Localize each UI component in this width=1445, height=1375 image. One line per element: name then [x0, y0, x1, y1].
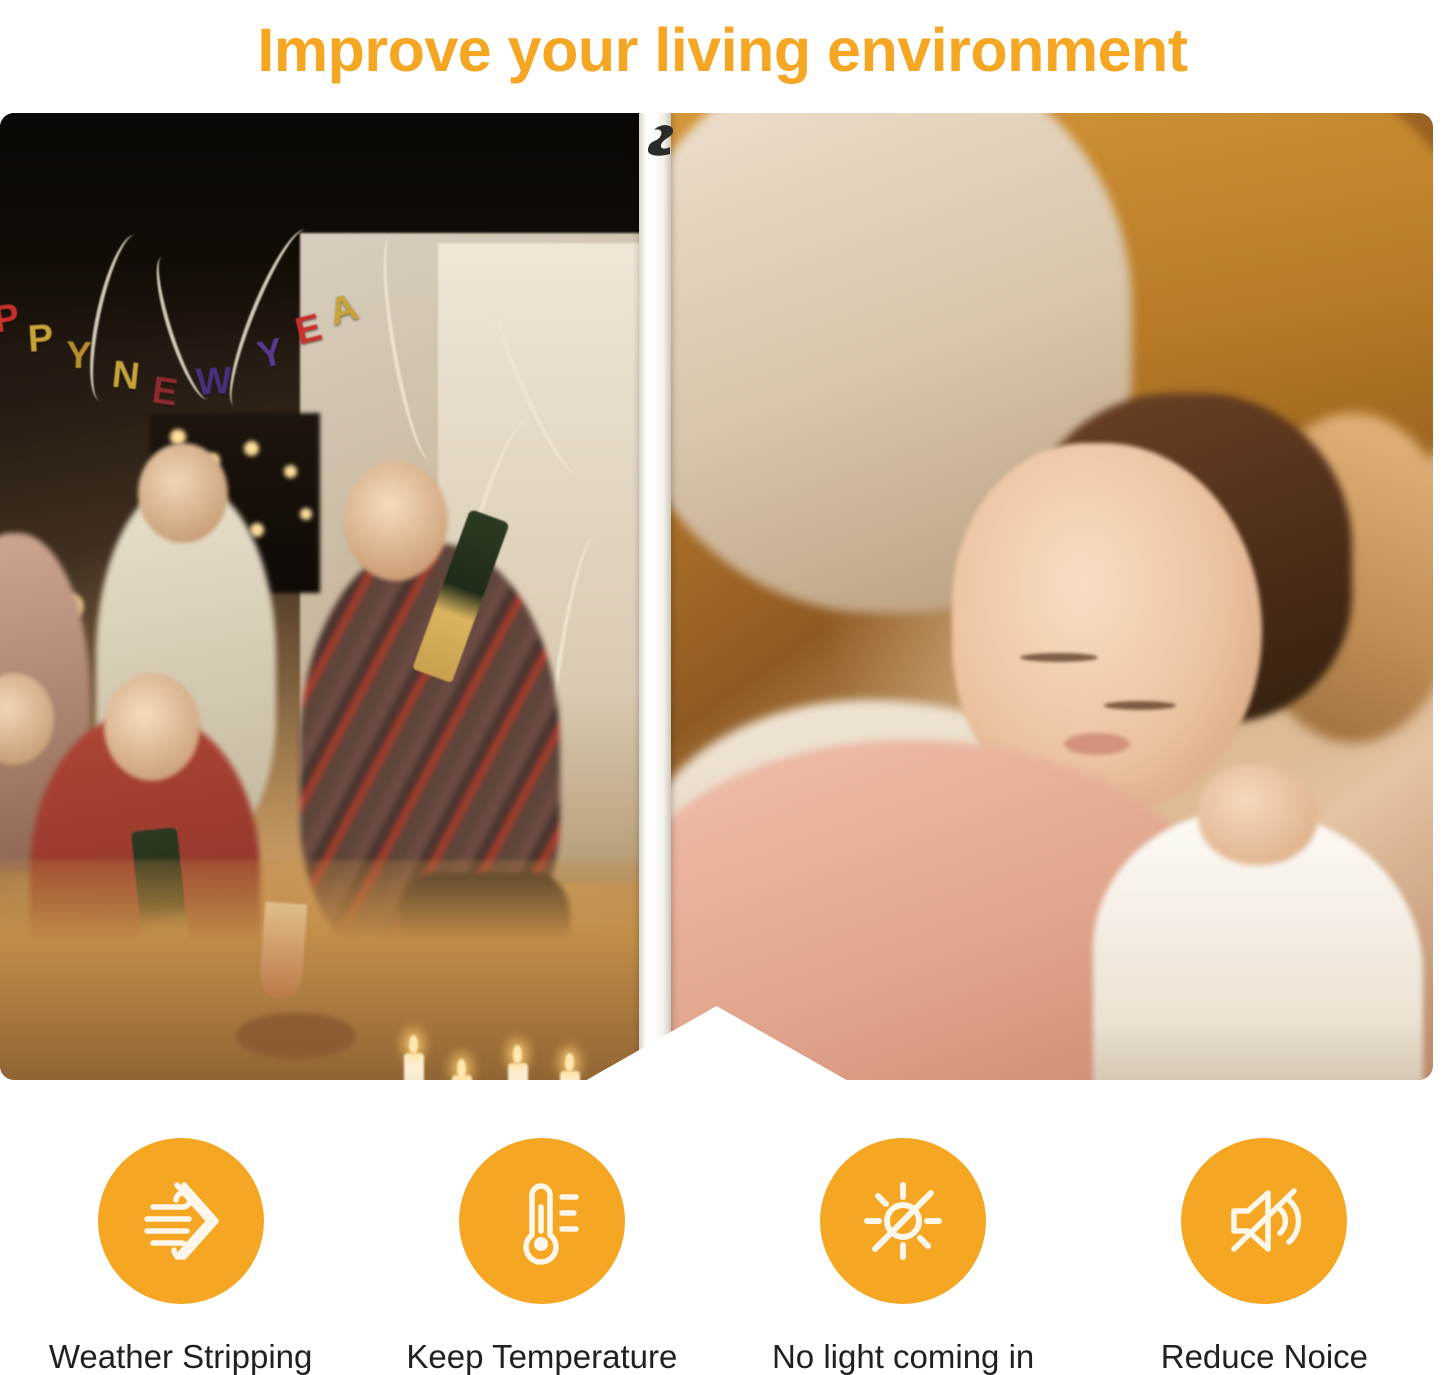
feature-item-weather-stripping: Weather Stripping	[0, 1138, 361, 1373]
person-head	[344, 461, 448, 581]
hero-image-block: P P Y N E W Y E A	[0, 113, 1433, 1080]
feature-label: Reduce Noice	[1161, 1340, 1368, 1373]
feature-icon-circle	[1181, 1138, 1347, 1304]
feature-icon-circle	[820, 1138, 986, 1304]
person-head	[138, 443, 228, 543]
sleeping-child-photo	[652, 113, 1433, 1080]
feature-icon-circle	[459, 1138, 625, 1304]
child-lips	[1064, 733, 1130, 755]
banner-letter: E	[149, 369, 180, 415]
feature-label: Keep Temperature	[406, 1340, 677, 1373]
feature-item-no-light: No light coming in	[723, 1138, 1084, 1373]
bokeh-light	[250, 523, 264, 537]
feature-item-keep-temperature: Keep Temperature	[361, 1138, 722, 1373]
child-eye	[1020, 653, 1098, 662]
candle-flame	[457, 1059, 466, 1077]
child-hand	[1198, 765, 1318, 865]
wind-airflow-icon	[129, 1169, 233, 1273]
child-eye	[1104, 701, 1176, 710]
weather-strip-divider	[639, 113, 671, 1080]
speaker-mute-icon	[1212, 1169, 1316, 1273]
bokeh-light	[300, 508, 312, 520]
candle	[508, 1063, 528, 1080]
thermometer-icon	[490, 1169, 594, 1273]
banner-letter: P	[27, 317, 55, 362]
candle	[404, 1053, 424, 1080]
candle	[560, 1071, 580, 1080]
feature-row: Weather Stripping Keep Temperature	[0, 1138, 1445, 1373]
page-title: Improve your living environment	[0, 0, 1445, 100]
door-seal-icon	[645, 121, 679, 157]
banner-letter: Y	[65, 335, 92, 379]
sun-slash-icon	[851, 1169, 955, 1273]
snack-platter	[236, 1013, 356, 1059]
feature-icon-circle	[98, 1138, 264, 1304]
candle-flame	[565, 1053, 574, 1071]
candle-flame	[409, 1035, 418, 1053]
candle-flame	[513, 1045, 522, 1063]
bokeh-light	[284, 465, 297, 478]
feature-label: Weather Stripping	[49, 1340, 313, 1373]
feature-label: No light coming in	[772, 1340, 1034, 1373]
feature-item-reduce-noise: Reduce Noice	[1084, 1138, 1445, 1373]
person-head	[104, 673, 200, 781]
new-year-party-photo: P P Y N E W Y E A	[0, 113, 652, 1080]
bokeh-light	[244, 441, 259, 456]
